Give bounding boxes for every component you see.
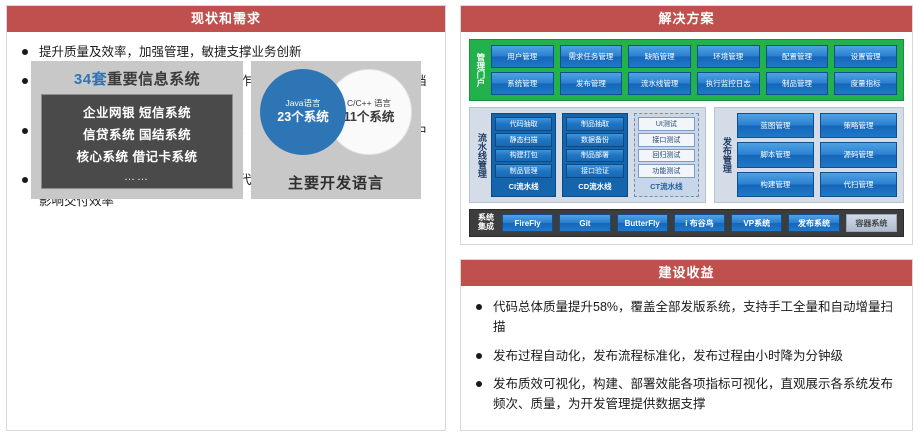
release-management-label: 发布管理	[721, 113, 731, 197]
portal-button-execution-monitor-log[interactable]: 执行监控日志	[697, 72, 760, 95]
portal-button-user-management[interactable]: 用户管理	[491, 45, 554, 68]
pipeline-ci-name: CI流水线	[495, 180, 552, 193]
portal-button-config-management[interactable]: 配置管理	[766, 45, 829, 68]
portal-button-environment-management[interactable]: 环境管理	[697, 45, 760, 68]
system-row: 企业网银 短信系统	[83, 102, 191, 121]
system-integration-row: FireFly Git ButterFly i 布谷鸟 VP系统 发布系统 容器…	[502, 214, 897, 232]
pipeline-ct-step-regression-test[interactable]: 回归测试	[638, 149, 695, 163]
list-item: 发布质效可视化，构建、部署效能各项指标可视化，直观展示各系统发布频次、质量，为开…	[473, 374, 898, 415]
benefits-body: 代码总体质量提升58%，覆盖全部发版系统，支持手工全量和自动增量扫描 发布过程自…	[461, 286, 912, 414]
pipeline-ci-step-code-extract[interactable]: 代码抽取	[495, 117, 552, 131]
pipeline-cd-name: CD流水线	[566, 180, 623, 193]
pipeline-column-cd: 制品抽取 数据备份 制品部署 接口验证 CD流水线	[562, 113, 627, 197]
management-portal-label: 管理门户	[476, 45, 485, 95]
pipeline-ct-step-interface-test[interactable]: 接口测试	[638, 133, 695, 147]
benefits-panel: 建设收益 代码总体质量提升58%，覆盖全部发版系统，支持手工全量和自动增量扫描 …	[460, 259, 913, 431]
release-button-codescan-management[interactable]: 代扫管理	[820, 172, 897, 197]
pipeline-release-row: 流水线管理 代码抽取 静态扫描 构建打包 制品管理 CI流水线 制品抽取 数据备…	[469, 107, 904, 203]
important-systems-box: 企业网银 短信系统 信贷系统 国结系统 核心系统 借记卡系统 ……	[41, 94, 233, 189]
important-systems-card: 34套重要信息系统 企业网银 短信系统 信贷系统 国结系统 核心系统 借记卡系统…	[31, 61, 243, 199]
important-systems-title-rest: 重要信息系统	[107, 71, 200, 88]
development-language-card: Java语言 23个系统 C/C++ 语言 11个系统 主要开发语言	[251, 61, 421, 199]
release-button-script-management[interactable]: 脚本管理	[737, 142, 814, 167]
integration-button-container-system[interactable]: 容器系统	[846, 214, 897, 232]
solution-panel: 解决方案 管理门户 用户管理 需求任务管理 缺陷管理 环境管理 配置管理 设置管…	[460, 5, 913, 245]
venn-diagram: Java语言 23个系统 C/C++ 语言 11个系统	[260, 69, 412, 155]
system-row: 信贷系统 国结系统	[83, 124, 191, 143]
list-item: 提升质量及效率，加强管理，敏捷支撑业务创新	[19, 42, 433, 62]
pipeline-column-ci: 代码抽取 静态扫描 构建打包 制品管理 CI流水线	[491, 113, 556, 197]
integration-button-git[interactable]: Git	[559, 214, 610, 232]
pipeline-cd-step-interface-verify[interactable]: 接口验证	[566, 164, 623, 178]
pipeline-ci-step-artifact-mgmt[interactable]: 制品管理	[495, 164, 552, 178]
pipeline-ct-step-function-test[interactable]: 功能测试	[638, 164, 695, 178]
benefits-title: 建设收益	[461, 260, 912, 286]
pipeline-cd-step-artifact-deploy[interactable]: 制品部署	[566, 149, 623, 163]
venn-cpp-label: C/C++ 语言	[347, 98, 391, 109]
portal-button-pipeline-management[interactable]: 流水线管理	[628, 72, 691, 95]
portal-button-artifact-management[interactable]: 制品管理	[766, 72, 829, 95]
pipeline-cd-step-data-backup[interactable]: 数据备份	[566, 133, 623, 147]
venn-circle-java: Java语言 23个系统	[260, 69, 346, 155]
current-needs-panel: 现状和需求 提升质量及效率，加强管理，敏捷支撑业务创新 代码扫描、编译构建、版本…	[6, 5, 446, 431]
pipeline-column-ct: UI测试 接口测试 回归测试 功能测试 CT流水线	[634, 113, 699, 197]
important-systems-count: 34套	[74, 71, 107, 88]
integration-button-cuckoo[interactable]: i 布谷鸟	[674, 214, 725, 232]
pipeline-cd-step-artifact-extract[interactable]: 制品抽取	[566, 117, 623, 131]
pipeline-ct-step-ui-test[interactable]: UI测试	[638, 117, 695, 131]
solution-title: 解决方案	[461, 6, 912, 32]
benefits-bullet-list: 代码总体质量提升58%，覆盖全部发版系统，支持手工全量和自动增量扫描 发布过程自…	[473, 297, 898, 414]
stats-strip: 34套重要信息系统 企业网银 短信系统 信贷系统 国结系统 核心系统 借记卡系统…	[31, 61, 421, 199]
management-portal-grid: 用户管理 需求任务管理 缺陷管理 环境管理 配置管理 设置管理 系统管理 发布管…	[491, 45, 897, 95]
pipeline-ct-name: CT流水线	[638, 180, 695, 193]
portal-button-system-management[interactable]: 系统管理	[491, 72, 554, 95]
important-systems-title: 34套重要信息系统	[74, 68, 200, 89]
list-item: 发布过程自动化，发布流程标准化，发布过程由小时降为分钟级	[473, 346, 898, 366]
release-button-blueprint-management[interactable]: 蓝图管理	[737, 113, 814, 138]
venn-java-value: 23个系统	[277, 110, 328, 126]
integration-button-release-system[interactable]: 发布系统	[788, 214, 839, 232]
system-integration-block: 系统集成 FireFly Git ButterFly i 布谷鸟 VP系统 发布…	[469, 209, 904, 237]
venn-java-label: Java语言	[286, 98, 321, 109]
portal-button-defect-management[interactable]: 缺陷管理	[628, 45, 691, 68]
pipeline-management-block: 流水线管理 代码抽取 静态扫描 构建打包 制品管理 CI流水线 制品抽取 数据备…	[469, 107, 706, 203]
integration-button-firefly[interactable]: FireFly	[502, 214, 553, 232]
integration-button-butterfly[interactable]: ButterFly	[617, 214, 668, 232]
integration-button-vp-system[interactable]: VP系统	[731, 214, 782, 232]
release-button-build-management[interactable]: 构建管理	[737, 172, 814, 197]
release-management-block: 发布管理 蓝图管理 策略管理 脚本管理 源码管理 构建管理 代扫管理	[714, 107, 904, 203]
current-needs-body: 提升质量及效率，加强管理，敏捷支撑业务创新 代码扫描、编译构建、版本发布等工作相…	[7, 32, 445, 211]
venn-cpp-value: 11个系统	[344, 110, 395, 126]
portal-button-settings-management[interactable]: 设置管理	[834, 45, 897, 68]
release-management-grid: 蓝图管理 策略管理 脚本管理 源码管理 构建管理 代扫管理	[737, 113, 897, 197]
slide-canvas: 现状和需求 提升质量及效率，加强管理，敏捷支撑业务创新 代码扫描、编译构建、版本…	[0, 0, 919, 436]
pipeline-ci-step-build-package[interactable]: 构建打包	[495, 149, 552, 163]
system-row: 核心系统 借记卡系统	[77, 146, 198, 165]
portal-button-metrics[interactable]: 度量指标	[834, 72, 897, 95]
pipeline-ci-step-static-scan[interactable]: 静态扫描	[495, 133, 552, 147]
management-portal-block: 管理门户 用户管理 需求任务管理 缺陷管理 环境管理 配置管理 设置管理 系统管…	[469, 39, 904, 101]
pipeline-management-label: 流水线管理	[476, 113, 486, 197]
current-needs-title: 现状和需求	[7, 6, 445, 32]
development-language-caption: 主要开发语言	[288, 172, 384, 193]
system-integration-label: 系统集成	[476, 214, 496, 232]
portal-button-requirement-task[interactable]: 需求任务管理	[560, 45, 623, 68]
portal-button-release-management[interactable]: 发布管理	[560, 72, 623, 95]
solution-body: 管理门户 用户管理 需求任务管理 缺陷管理 环境管理 配置管理 设置管理 系统管…	[461, 32, 912, 244]
system-row-ellipsis: ……	[124, 171, 150, 183]
list-item: 代码总体质量提升58%，覆盖全部发版系统，支持手工全量和自动增量扫描	[473, 297, 898, 338]
pipeline-columns: 代码抽取 静态扫描 构建打包 制品管理 CI流水线 制品抽取 数据备份 制品部署…	[491, 113, 699, 197]
release-button-source-management[interactable]: 源码管理	[820, 142, 897, 167]
release-button-strategy-management[interactable]: 策略管理	[820, 113, 897, 138]
